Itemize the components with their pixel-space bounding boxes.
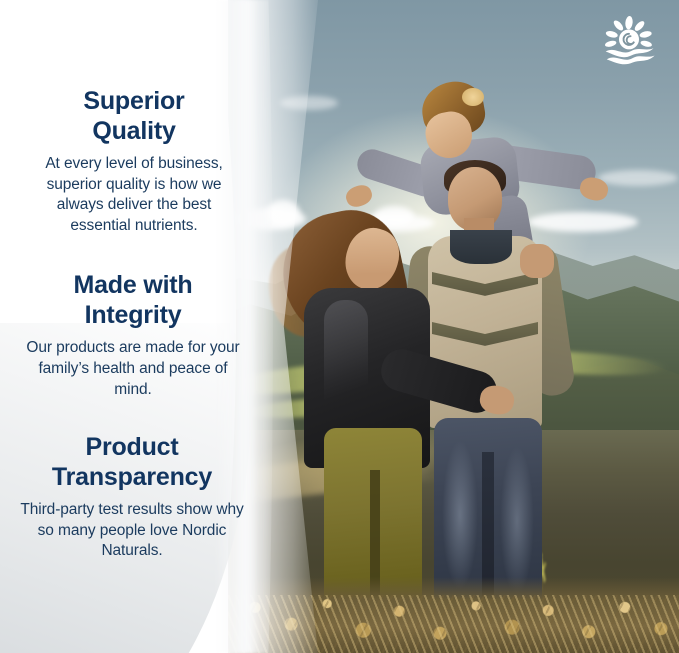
value-prop-body: Our products are made for your family’s … xyxy=(26,338,240,400)
value-prop-heading: SuperiorQuality xyxy=(29,86,239,146)
value-prop-superior-quality: SuperiorQuality At every level of busine… xyxy=(11,86,239,236)
heading-line-2: Integrity xyxy=(85,301,182,329)
nordic-naturals-logo-icon xyxy=(601,16,657,66)
brand-values-banner: SuperiorQuality At every level of busine… xyxy=(0,0,679,653)
heading-line-2: Transparency xyxy=(52,463,212,491)
child-left-hand xyxy=(343,182,374,210)
jeans-highlight xyxy=(500,446,534,596)
value-prop-heading: ProductTransparency xyxy=(19,432,245,492)
child-hair-tie xyxy=(462,88,484,106)
value-prop-body: At every level of business, superior qua… xyxy=(29,154,239,236)
man-collar xyxy=(450,230,512,264)
child-right-hand xyxy=(578,175,610,203)
value-prop-made-with-integrity: Made withIntegrity Our products are made… xyxy=(10,270,240,400)
value-prop-body: Third-party test results show why so man… xyxy=(19,500,245,562)
heading-line-1: Superior xyxy=(83,87,184,115)
jeans-highlight xyxy=(442,440,478,590)
lifestyle-photo xyxy=(228,0,679,653)
heading-line-1: Made with xyxy=(73,271,192,299)
man-right-hand xyxy=(520,244,554,278)
value-prop-heading: Made withIntegrity xyxy=(26,270,240,330)
value-prop-product-transparency: ProductTransparency Third-party test res… xyxy=(5,432,245,562)
heading-line-2: Quality xyxy=(92,117,175,145)
value-props-column: SuperiorQuality At every level of busine… xyxy=(0,0,250,653)
heading-line-1: Product xyxy=(85,433,178,461)
jacket-sheen xyxy=(324,300,368,420)
